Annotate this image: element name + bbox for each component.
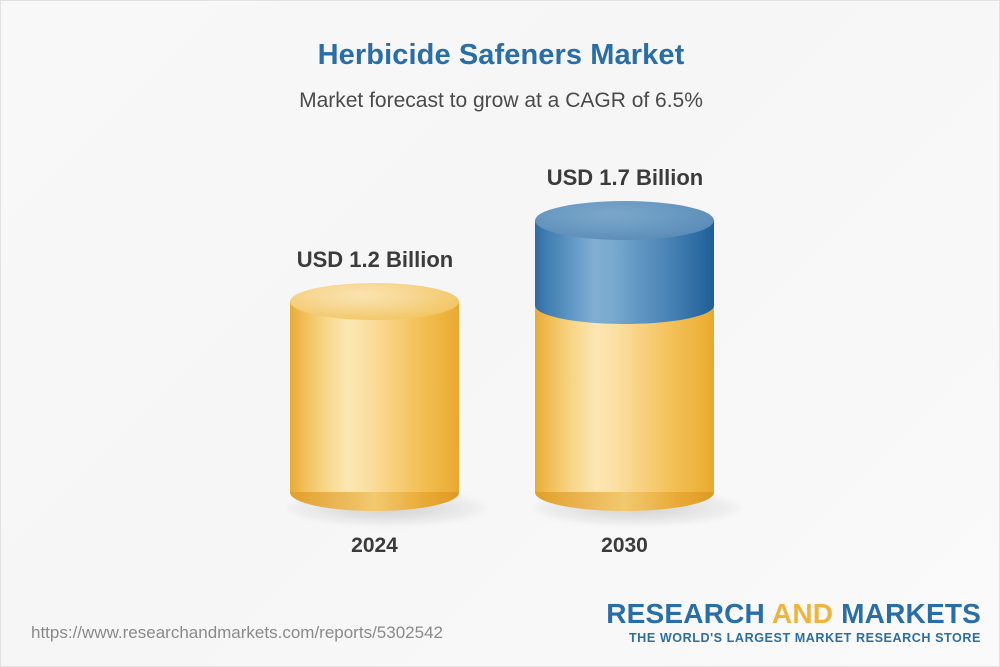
bar-value-label-2024: USD 1.2 Billion xyxy=(275,247,475,273)
brand-logo-markets: MARKETS xyxy=(841,598,981,629)
bar-category-label-2030: 2030 xyxy=(535,534,714,558)
cylinder-top-cap-2030 xyxy=(535,201,714,240)
cylinder-2030 xyxy=(535,201,714,511)
report-url[interactable]: https://www.researchandmarkets.com/repor… xyxy=(31,623,443,643)
brand-logo-research: RESEARCH xyxy=(606,598,772,629)
cylinder-segment-base-2030 xyxy=(535,305,714,492)
cylinder-2024 xyxy=(290,283,459,511)
bar-value-label-2030: USD 1.7 Billion xyxy=(525,165,725,191)
brand-logo-wordmark: RESEARCH AND MARKETS xyxy=(606,599,981,628)
plot-area: USD 1.2 Billion 2024 USD 1.7 Billion xyxy=(1,1,1000,667)
cylinder-top-cap-2024 xyxy=(290,283,459,320)
cylinder-segment-seam-2030 xyxy=(535,287,714,324)
brand-logo: RESEARCH AND MARKETS THE WORLD'S LARGEST… xyxy=(606,599,981,645)
bar-category-label-2024: 2024 xyxy=(290,534,459,558)
chart-image: Herbicide Safeners Market Market forecas… xyxy=(0,0,1000,667)
brand-logo-and: AND xyxy=(772,598,841,629)
cylinder-body-2024 xyxy=(290,301,459,492)
brand-logo-tagline: THE WORLD'S LARGEST MARKET RESEARCH STOR… xyxy=(606,631,981,645)
